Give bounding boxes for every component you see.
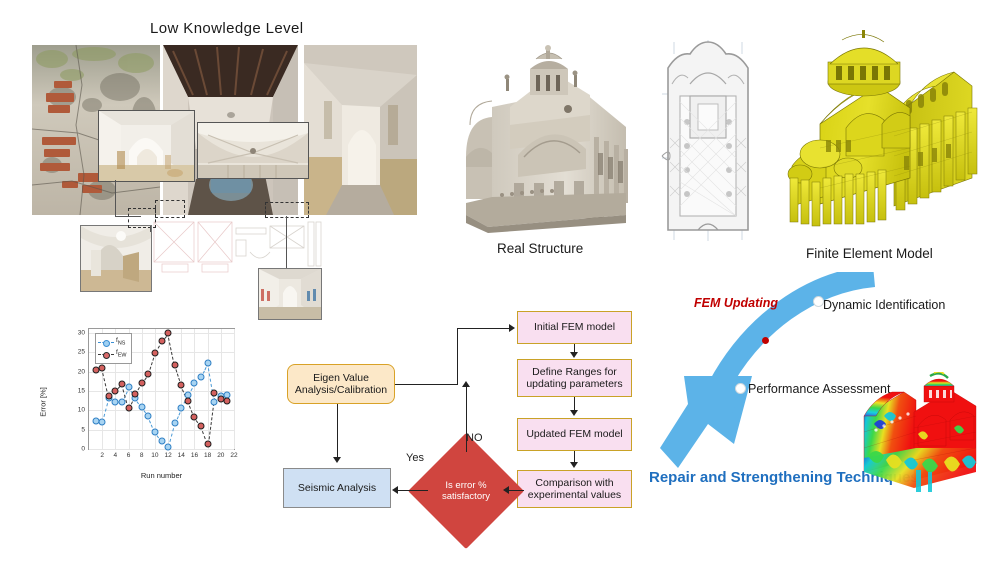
chart-gridline-x: [208, 329, 209, 449]
flow-box-updated-fem-model[interactable]: Updated FEM model: [517, 418, 632, 451]
flow-box-seismic-analysis[interactable]: Seismic Analysis: [283, 468, 391, 508]
flow-label-no: NO: [466, 432, 483, 444]
flow-decision-is-error-satisfactory[interactable]: Is error % satisfactory: [425, 450, 507, 532]
label-dynamic-identification: Dynamic Identification: [823, 297, 945, 313]
chart-point-f_NS: [191, 380, 198, 387]
chart-point-f_EW: [138, 379, 145, 386]
chart-point-f_EW: [151, 350, 158, 357]
flow-box-eigen-value-analysis[interactable]: Eigen Value Analysis/Calibration: [287, 364, 395, 404]
connector-eigen-to-riser: [395, 384, 458, 385]
chart-point-f_NS: [171, 419, 178, 426]
chart-gridline-x: [234, 329, 235, 449]
chart-y-axis-label: Error [%]: [39, 387, 48, 417]
chart-point-f_EW: [184, 397, 191, 404]
lead-line-b: [115, 216, 141, 217]
chart-plot-area: fNS fEW 051015202530246810121416182022: [88, 328, 235, 450]
chart-tick-y: 5: [81, 426, 85, 433]
lead-line-d: [150, 226, 151, 232]
fem-updating-text: FEM Updating: [694, 296, 778, 310]
legend-item-ns: fNS: [98, 336, 127, 348]
photo-inset-vault-ceiling: [197, 122, 309, 179]
model-fem-colormap-result: [858, 372, 986, 500]
chart-gridline-y: [89, 449, 234, 450]
chart-point-f_EW: [211, 389, 218, 396]
chart-tick-x: 4: [114, 452, 118, 459]
chart-point-f_EW: [178, 382, 185, 389]
chart-tick-x: 10: [151, 452, 158, 459]
chart-point-f_EW: [171, 362, 178, 369]
chart-point-f_NS: [158, 438, 165, 445]
inset-vault-ceiling-image: [198, 123, 308, 178]
chart-point-f_EW: [204, 440, 211, 447]
inset-hall-image: [259, 269, 321, 319]
workflow-dot-performance-assessment: [735, 383, 746, 394]
arrowhead-updated: [570, 410, 578, 416]
chart-point-f_NS: [198, 373, 205, 380]
chart-tick-x: 2: [100, 452, 104, 459]
chart-tick-x: 12: [164, 452, 171, 459]
chart-tick-y: 25: [78, 349, 85, 356]
arrowhead-ranges: [570, 352, 578, 358]
decision-label: Is error % satisfactory: [425, 450, 507, 532]
floorplan-faint-overlay: [150, 218, 325, 276]
chart-gridline-x: [194, 329, 195, 449]
fem-yellow-image: [786, 28, 986, 238]
callout-box-mid: [155, 200, 185, 218]
chart-point-f_EW: [224, 398, 231, 405]
photo-corridor-right: [304, 45, 417, 215]
chart-point-f_NS: [99, 419, 106, 426]
inset-vault-corridor-image: [99, 111, 194, 181]
photo-inset-arch: [80, 225, 152, 292]
legend-line-ns: [98, 342, 114, 343]
chart-point-f_EW: [158, 338, 165, 345]
legend-label-ew: fEW: [116, 348, 127, 360]
fem-colormap-image: [858, 372, 986, 500]
chart-point-f_NS: [118, 398, 125, 405]
connector-decision-to-seismic: [398, 490, 428, 491]
chart-tick-x: 18: [204, 452, 211, 459]
chart-gridline-y: [89, 372, 234, 373]
chart-point-f_EW: [165, 330, 172, 337]
chart-legend: fNS fEW: [95, 333, 132, 364]
chart-point-f_NS: [138, 404, 145, 411]
drawing-floor-plan: [660, 38, 756, 243]
label-real-structure: Real Structure: [497, 241, 583, 256]
connector-decision-no-up: [466, 386, 467, 452]
floor-plan-image: [660, 38, 756, 243]
arrowhead-comparison: [570, 462, 578, 468]
chart-point-f_EW: [145, 370, 152, 377]
chart-gridline-x: [142, 329, 143, 449]
chart-point-f_EW: [99, 364, 106, 371]
chart-point-f_EW: [105, 392, 112, 399]
workflow-dot-dynamic-identification: [813, 296, 824, 307]
chart-tick-y: 0: [81, 446, 85, 453]
chart-x-axis-label: Run number: [88, 471, 235, 480]
flow-box-comparison[interactable]: Comparison with experimental values: [517, 470, 632, 508]
flow-box-initial-fem-model[interactable]: Initial FEM model: [517, 311, 632, 344]
arrowhead-seismic: [333, 457, 341, 463]
model-finite-element-yellow: [786, 28, 986, 238]
chart-point-f_EW: [191, 414, 198, 421]
arrowhead-no-up: [462, 381, 470, 387]
chart-point-f_NS: [178, 404, 185, 411]
callout-box-left: [128, 208, 156, 228]
lead-line-c: [286, 216, 287, 268]
legend-line-ew: [98, 354, 114, 355]
cathedral-image: [458, 45, 636, 235]
corridor-right-image: [304, 45, 417, 215]
arrowhead-initial-fem: [509, 324, 515, 332]
chart-point-f_EW: [118, 381, 125, 388]
chart-tick-y: 20: [78, 368, 85, 375]
chart-gridline-y: [89, 430, 234, 431]
chart-tick-y: 30: [78, 329, 85, 336]
chart-tick-x: 8: [140, 452, 144, 459]
label-finite-element-model: Finite Element Model: [806, 246, 933, 261]
chart-point-f_NS: [165, 444, 172, 451]
chart-point-f_NS: [151, 428, 158, 435]
connector-ranges-to-updated: [574, 397, 575, 410]
page-title-low-knowledge: Low Knowledge Level: [150, 20, 304, 37]
chart-gridline-x: [221, 329, 222, 449]
chart-point-f_EW: [198, 422, 205, 429]
connector-eigen-to-seismic: [337, 404, 338, 458]
connector-riser-to-initial: [457, 328, 509, 329]
chart-point-f_NS: [145, 413, 152, 420]
chart-point-f_EW: [112, 388, 119, 395]
chart-tick-x: 16: [191, 452, 198, 459]
workflow-dot-fem-updating: [762, 337, 769, 344]
arrowhead-seismic-left: [392, 486, 398, 494]
chart-tick-x: 6: [127, 452, 131, 459]
chart-tick-x: 14: [178, 452, 185, 459]
chart-point-f_EW: [132, 391, 139, 398]
chart-point-f_NS: [125, 384, 132, 391]
chart-point-f_NS: [204, 359, 211, 366]
chart-tick-x: 22: [230, 452, 237, 459]
label-fem-updating: FEM Updating: [694, 296, 778, 311]
connector-comparison-to-decision: [508, 490, 524, 491]
chart-error-vs-run: Error [%] Run number fNS fEW 05101520253…: [40, 318, 245, 486]
floorplan-faint-image: [150, 218, 325, 276]
chart-tick-y: 15: [78, 387, 85, 394]
chart-tick-x: 20: [217, 452, 224, 459]
callout-box-right: [265, 202, 309, 218]
dynamic-identification-text: Dynamic Identification: [823, 298, 945, 312]
legend-label-ns: fNS: [116, 336, 125, 348]
flow-label-yes: Yes: [406, 452, 424, 464]
chart-point-f_EW: [125, 405, 132, 412]
legend-item-ew: fEW: [98, 348, 127, 360]
lead-line-a: [115, 180, 116, 216]
photo-inset-vault-corridor: [98, 110, 195, 182]
inset-arch-image: [81, 226, 151, 291]
flow-box-define-ranges[interactable]: Define Ranges for updating parameters: [517, 359, 632, 397]
photo-real-structure-cathedral: [458, 45, 636, 235]
connector-riser-up: [457, 328, 458, 385]
chart-tick-y: 10: [78, 407, 85, 414]
